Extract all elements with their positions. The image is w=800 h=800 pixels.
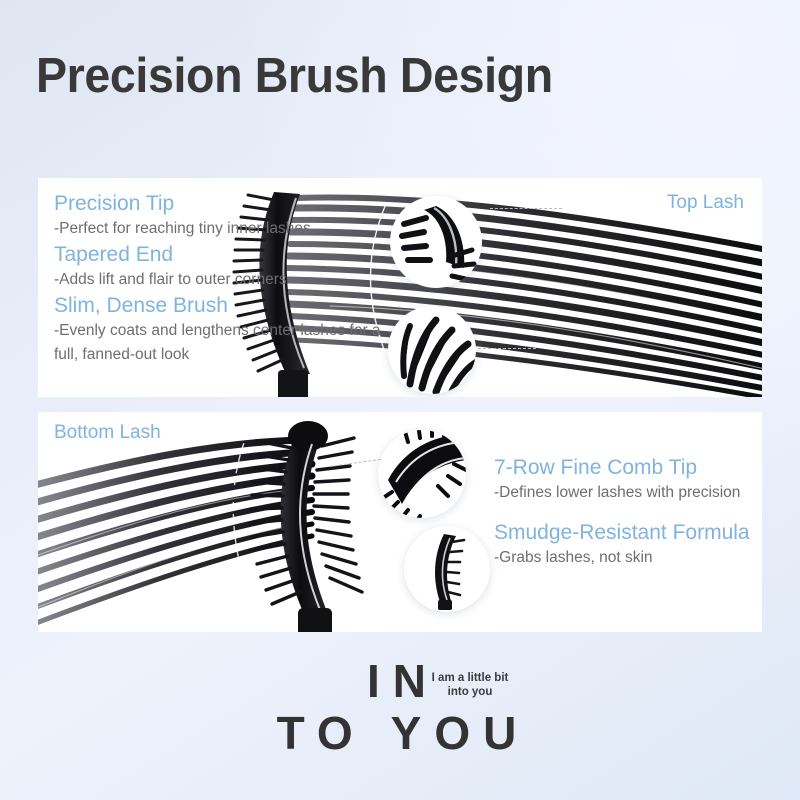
panel-top-lash: Precision Tip -Perfect for reaching tiny… — [38, 178, 762, 397]
feature-body: -Evenly coats and lengthens center lashe… — [54, 319, 404, 367]
label-top-lash: Top Lash — [667, 192, 744, 214]
panel-bottom-lash: Bottom Lash — [38, 412, 762, 632]
bottom-feature-list: 7-Row Fine Comb Tip -Defines lower lashe… — [494, 454, 762, 570]
bristle-closeup-art — [388, 306, 476, 394]
label-bottom-lash: Bottom Lash — [54, 422, 161, 444]
brand-line-2: TO YOU — [0, 707, 800, 759]
feature-heading: 7-Row Fine Comb Tip — [494, 454, 762, 481]
feature-heading: Precision Tip — [54, 190, 404, 217]
bottom-lash-brush-artwork — [38, 416, 412, 632]
comb-tip-closeup-art — [378, 430, 466, 518]
page-title: Precision Brush Design — [36, 48, 553, 104]
feature-body: -Grabs lashes, not skin — [494, 546, 762, 570]
callout-brush-profile-closeup — [404, 526, 490, 612]
top-feature-list: Precision Tip -Perfect for reaching tiny… — [54, 190, 404, 367]
callout-bristle-closeup — [388, 306, 476, 394]
callout-connector — [478, 348, 536, 349]
product-infographic: Precision Brush Design — [0, 0, 800, 800]
feature-heading: Slim, Dense Brush — [54, 292, 404, 319]
feature-body: -Perfect for reaching tiny inner lashes — [54, 217, 404, 241]
callout-brush-tip-closeup — [390, 196, 482, 288]
feature-heading: Smudge-Resistant Formula — [494, 519, 762, 546]
brand-tagline-line-1: I am a little bit — [405, 671, 535, 685]
callout-connector — [490, 208, 562, 209]
brand-tagline: I am a little bit into you — [405, 671, 535, 699]
brand-line-1: IN — [0, 655, 800, 707]
feature-heading: Tapered End — [54, 241, 404, 268]
brand-tagline-line-2: into you — [405, 685, 535, 699]
feature-body: -Adds lift and flair to outer corners — [54, 268, 404, 292]
brush-profile-closeup-art — [404, 526, 490, 612]
callout-comb-tip-closeup — [378, 430, 466, 518]
brand-logo-block: IN TO YOU I am a little bit into you — [0, 655, 800, 759]
feature-body: -Defines lower lashes with precision — [494, 481, 762, 505]
brush-tip-closeup-art — [390, 196, 482, 288]
